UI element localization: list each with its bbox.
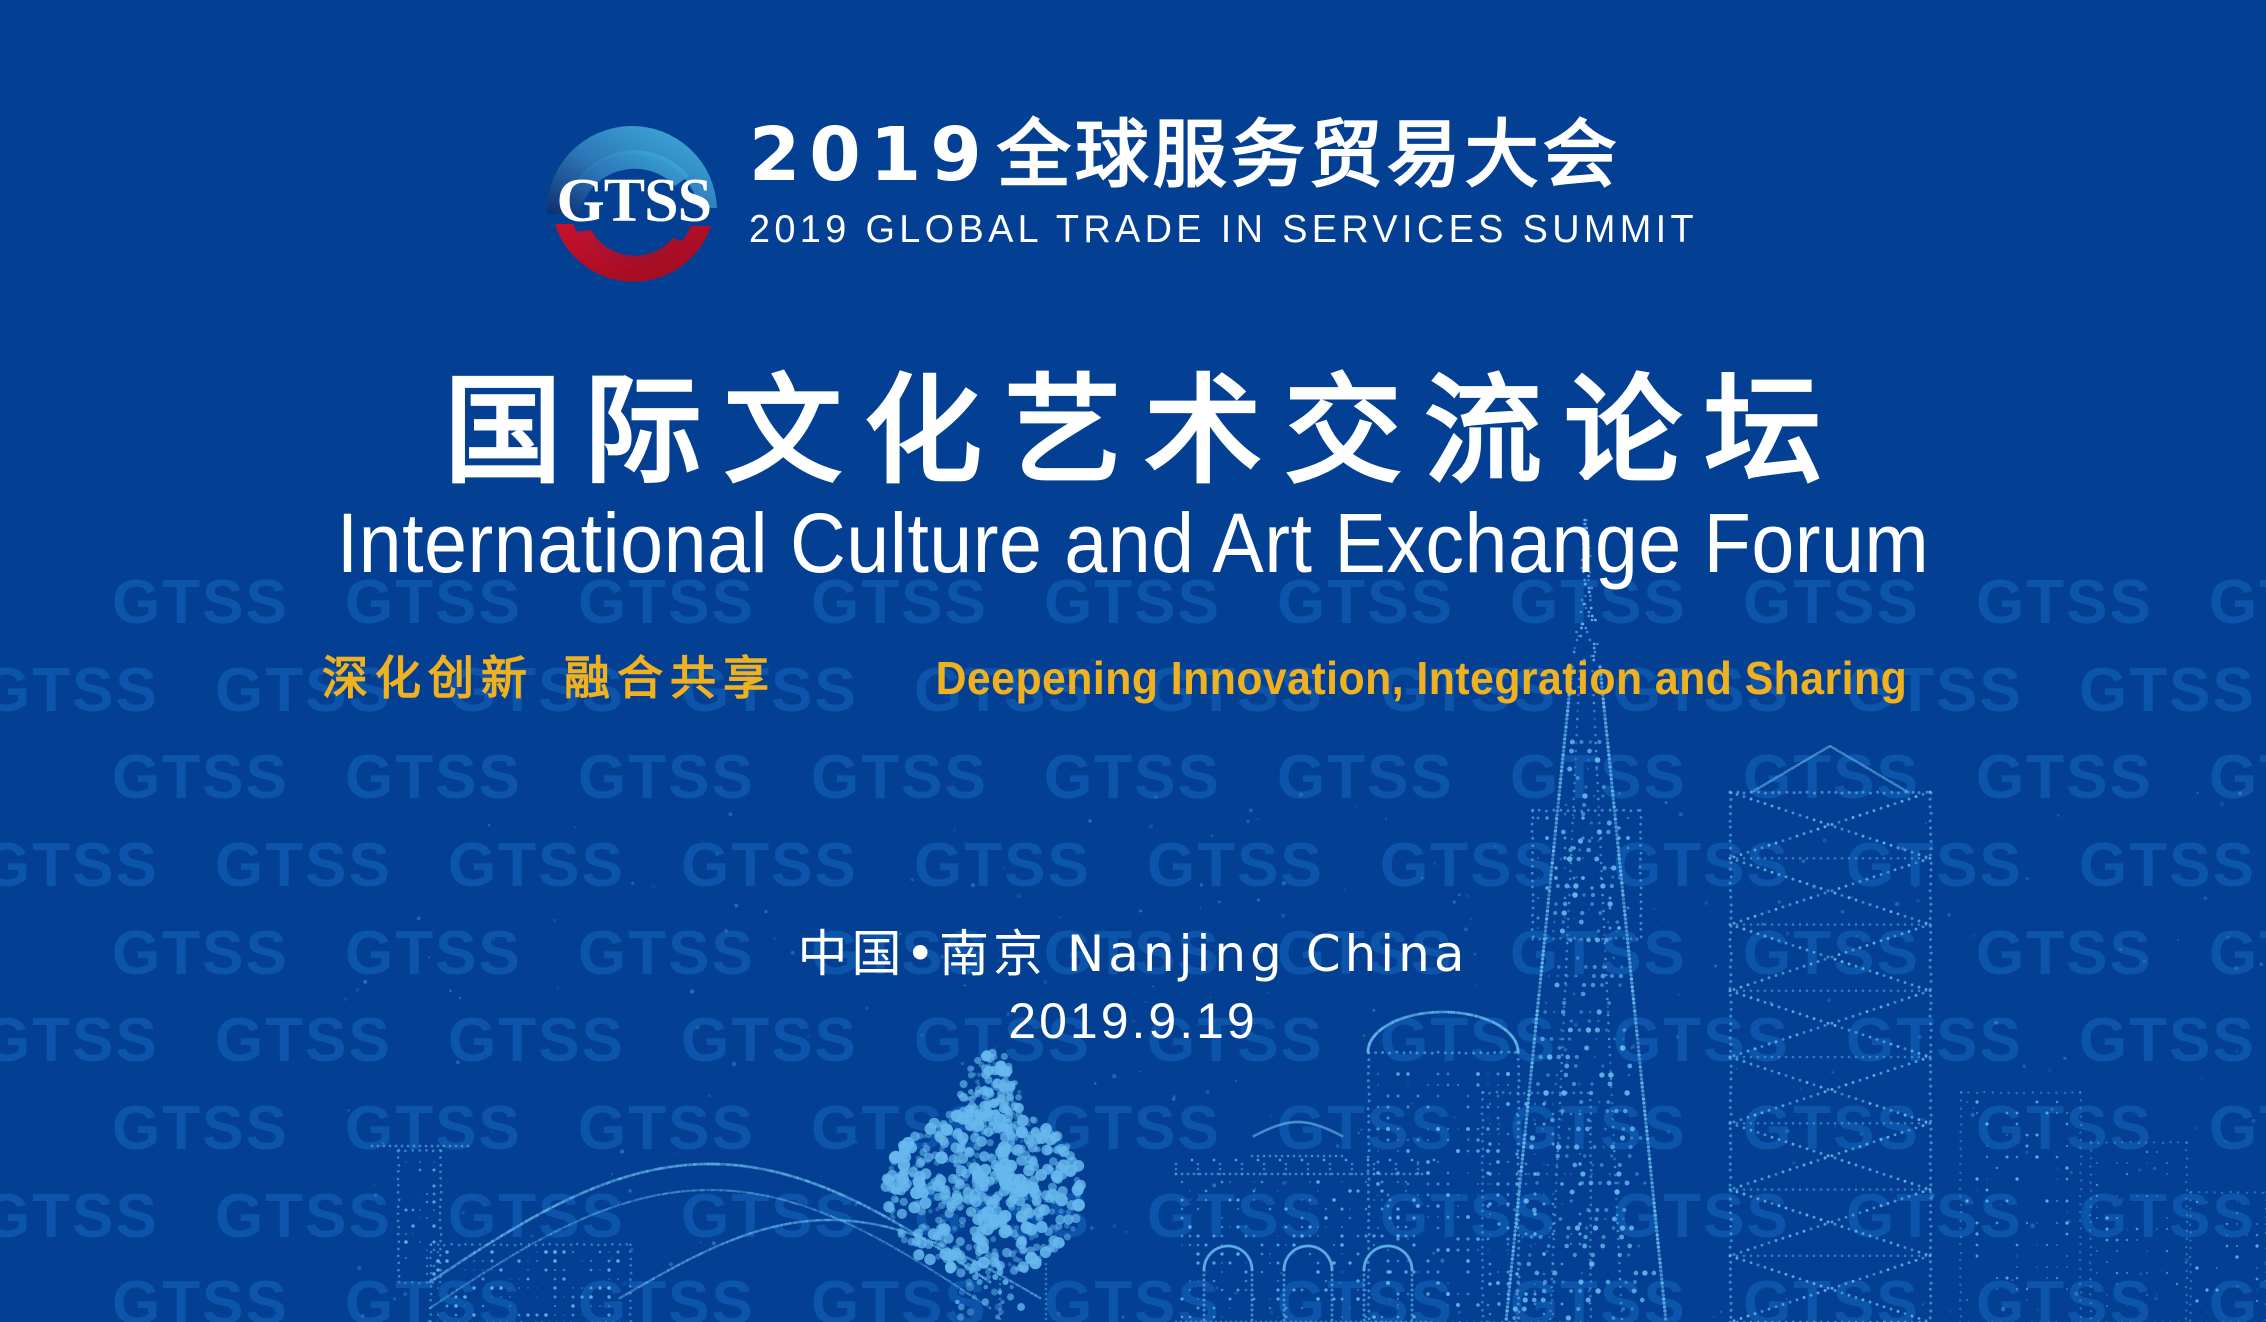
poster-canvas: GTSSGTSSGTSSGTSSGTSSGTSSGTSSGTSSGTSSGTSS… — [0, 0, 2266, 1322]
content-layer: GTSS 2019全球服务贸易大会 2019 GLOBAL TRADE IN S… — [0, 0, 2266, 1322]
tagline-row: 深化创新融合共享 Deepening Innovation, Integrati… — [322, 655, 1944, 701]
tagline-cn: 深化创新融合共享 — [322, 655, 776, 701]
gtss-logo-icon: GTSS — [539, 104, 725, 290]
venue-block: 中国•南京 Nanjing China 2019.9.19 — [0, 925, 2266, 1046]
header-lockup: GTSS 2019全球服务贸易大会 2019 GLOBAL TRADE IN S… — [0, 108, 2266, 290]
header-text-group: 2019全球服务贸易大会 2019 GLOBAL TRADE IN SERVIC… — [749, 108, 1727, 249]
summit-year: 2019 — [749, 112, 991, 198]
event-date: 2019.9.19 — [0, 996, 2266, 1046]
gtss-logo-wordmark: GTSS — [539, 104, 725, 290]
summit-title-en: 2019 GLOBAL TRADE IN SERVICES SUMMIT — [749, 210, 1698, 249]
tagline-cn-part1: 深化创新 — [322, 651, 534, 705]
tagline-cn-part2: 融合共享 — [564, 651, 776, 705]
venue-location: 中国•南京 Nanjing China — [0, 925, 2266, 984]
forum-title-block: 国际文化艺术交流论坛 International Culture and Art… — [0, 370, 2266, 585]
tagline-en: Deepening Innovation, Integration and Sh… — [936, 655, 1908, 701]
summit-title-cn: 2019全球服务贸易大会 — [749, 118, 1727, 192]
summit-title-cn-text: 全球服务贸易大会 — [997, 112, 1621, 198]
forum-title-en: International Culture and Art Exchange F… — [91, 501, 2176, 585]
forum-title-cn: 国际文化艺术交流论坛 — [0, 370, 2266, 493]
